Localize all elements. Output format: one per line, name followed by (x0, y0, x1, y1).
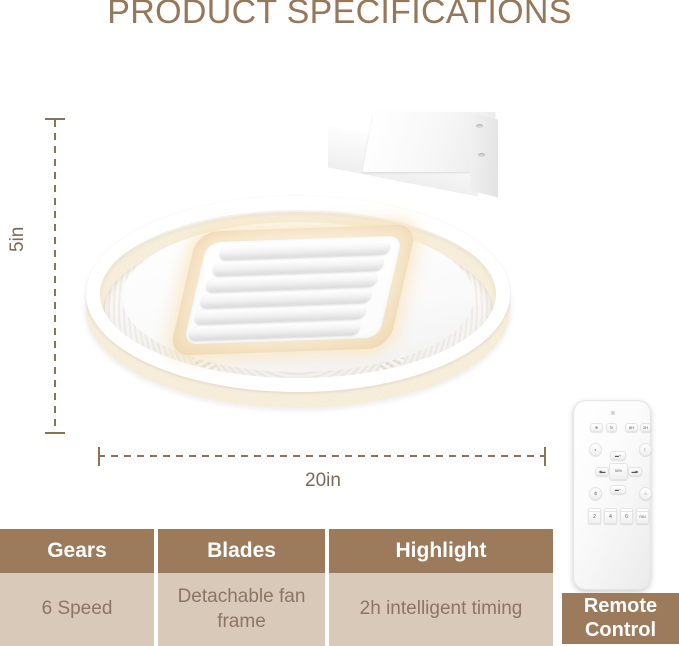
spec-column-highlight: Highlight 2h intelligent timing (329, 529, 553, 646)
remote-button-left[interactable]: ◀▬ (595, 467, 609, 476)
remote-button-snowflake-icon[interactable]: ❄ (590, 423, 603, 432)
remote-key-6[interactable]: 6 (620, 511, 633, 524)
spec-header-blades: Blades (158, 529, 325, 573)
product-image (78, 110, 548, 440)
width-dimension-label: 20in (0, 470, 646, 492)
remote-caption-line-1: Remote (584, 595, 657, 619)
remote-button-clock-icon[interactable]: ⏱ (589, 487, 602, 500)
remote-button-timer-6h[interactable]: 6H (625, 423, 638, 432)
remote-button-dimmer-icon[interactable]: ◐ (589, 443, 602, 456)
remote-control-image: ❄ ↻ 6H 2H ◐ ☾ ⏱ ☆ ▬+ ◀▬ ▬▶ ▬− 50% 1 2 3 … (565, 398, 679, 646)
spec-header-highlight: Highlight (329, 529, 553, 573)
spec-value-blades: Detachable fan frame (158, 573, 325, 646)
remote-button-timer-2h[interactable]: 2H (640, 423, 651, 432)
spec-column-gears: Gears 6 Speed (0, 529, 154, 646)
remote-key-2[interactable]: 2 (588, 511, 601, 524)
height-dimension-line (54, 120, 56, 432)
remote-key-fan-off[interactable]: FAN (636, 511, 649, 524)
ceiling-fan-fixture (78, 150, 518, 440)
remote-ir-led-icon (611, 411, 615, 415)
remote-button-brightness-down[interactable]: ▬− (610, 485, 626, 494)
remote-button-brightness-up[interactable]: ▬+ (610, 451, 626, 460)
remote-caption-line-2: Control (585, 619, 656, 643)
bracket-screw-hole (476, 124, 483, 128)
height-dimension-label: 5in (7, 227, 29, 252)
spec-table: Gears 6 Speed Blades Detachable fan fram… (0, 529, 553, 646)
page-title: PRODUCT SPECIFICATIONS (0, 0, 679, 32)
spec-value-gears: 6 Speed (0, 573, 154, 646)
width-dimension-cap-right (544, 447, 546, 466)
remote-button-star-icon[interactable]: ☆ (639, 487, 652, 500)
remote-body: ❄ ↻ 6H 2H ◐ ☾ ⏱ ☆ ▬+ ◀▬ ▬▶ ▬− 50% 1 2 3 … (573, 400, 651, 590)
fan-blades (190, 239, 390, 341)
remote-key-4[interactable]: 4 (604, 511, 617, 524)
spec-header-gears: Gears (0, 529, 154, 573)
remote-button-right[interactable]: ▬▶ (628, 467, 642, 476)
spec-column-blades: Blades Detachable fan frame (158, 529, 325, 646)
remote-button-reverse-icon[interactable]: ↻ (606, 423, 617, 432)
remote-control-caption: Remote Control (562, 593, 679, 644)
remote-button-center-power[interactable]: 50% (609, 463, 628, 480)
spec-value-highlight: 2h intelligent timing (329, 573, 553, 646)
height-dimension-cap-bottom (45, 432, 65, 434)
width-dimension-line (98, 455, 546, 457)
remote-button-night-icon[interactable]: ☾ (639, 443, 652, 456)
